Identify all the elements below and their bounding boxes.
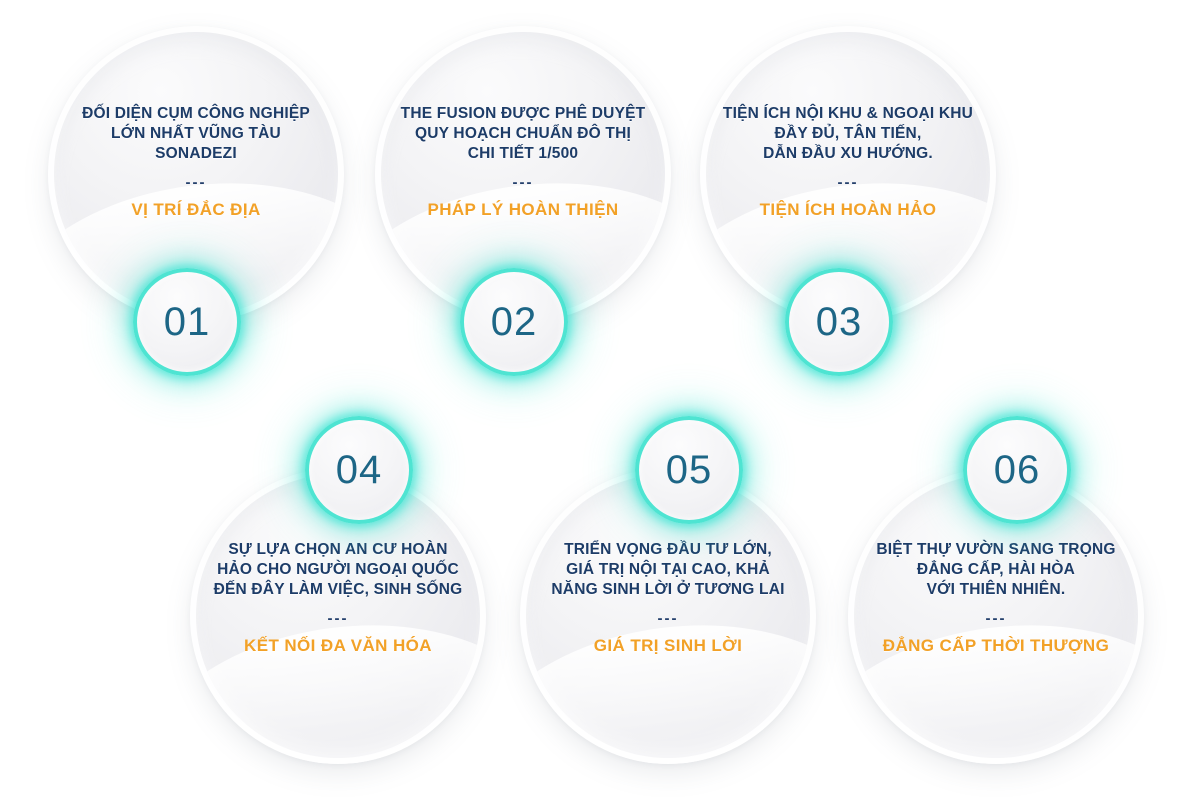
card-text-block: TRIỂN VỌNG ĐẦU TƯ LỚN, GIÁ TRỊ NỘI TẠI C…	[538, 540, 799, 657]
card-subtitle: TIỆN ÍCH HOÀN HẢO	[718, 199, 979, 221]
card-number-badge: 01	[133, 268, 241, 376]
feature-card-04: SỰ LỰA CHỌN AN CƯ HOÀN HẢO CHO NGƯỜI NGO…	[190, 468, 486, 764]
feature-card-06: BIỆT THỰ VƯỜN SANG TRỌNG ĐẲNG CẤP, HÀI H…	[848, 468, 1144, 764]
card-number-label: 05	[666, 450, 713, 490]
card-separator: ---	[208, 609, 469, 629]
card-number-label: 02	[491, 302, 538, 342]
card-number-badge: 04	[305, 416, 413, 524]
card-subtitle: PHÁP LÝ HOÀN THIỆN	[393, 199, 654, 221]
card-text-block: THE FUSION ĐƯỢC PHÊ DUYỆT QUY HOẠCH CHUẨ…	[393, 104, 654, 221]
card-text-block: BIỆT THỰ VƯỜN SANG TRỌNG ĐẲNG CẤP, HÀI H…	[866, 540, 1127, 657]
card-number-badge: 06	[963, 416, 1071, 524]
infographic-canvas: ĐỐI DIỆN CỤM CÔNG NGHIỆP LỚN NHẤT VŨNG T…	[0, 0, 1200, 800]
card-number-badge: 05	[635, 416, 743, 524]
card-number-label: 04	[336, 450, 383, 490]
card-heading: THE FUSION ĐƯỢC PHÊ DUYỆT QUY HOẠCH CHUẨ…	[393, 104, 654, 164]
card-text-block: SỰ LỰA CHỌN AN CƯ HOÀN HẢO CHO NGƯỜI NGO…	[208, 540, 469, 657]
card-subtitle: ĐẲNG CẤP THỜI THƯỢNG	[866, 635, 1127, 657]
card-heading: TRIỂN VỌNG ĐẦU TƯ LỚN, GIÁ TRỊ NỘI TẠI C…	[538, 540, 799, 600]
card-number-label: 06	[994, 450, 1041, 490]
card-heading: SỰ LỰA CHỌN AN CƯ HOÀN HẢO CHO NGƯỜI NGO…	[208, 540, 469, 600]
card-subtitle: GIÁ TRỊ SINH LỜI	[538, 635, 799, 657]
card-text-block: TIỆN ÍCH NỘI KHU & NGOẠI KHU ĐẦY ĐỦ, TÂN…	[718, 104, 979, 221]
card-subtitle: KẾT NỐI ĐA VĂN HÓA	[208, 635, 469, 657]
card-number-badge: 03	[785, 268, 893, 376]
card-text-block: ĐỐI DIỆN CỤM CÔNG NGHIỆP LỚN NHẤT VŨNG T…	[66, 104, 327, 221]
card-number-badge: 02	[460, 268, 568, 376]
feature-card-02: THE FUSION ĐƯỢC PHÊ DUYỆT QUY HOẠCH CHUẨ…	[375, 26, 671, 322]
card-heading: BIỆT THỰ VƯỜN SANG TRỌNG ĐẲNG CẤP, HÀI H…	[866, 540, 1127, 600]
card-separator: ---	[393, 173, 654, 193]
card-heading: ĐỐI DIỆN CỤM CÔNG NGHIỆP LỚN NHẤT VŨNG T…	[66, 104, 327, 164]
card-separator: ---	[718, 173, 979, 193]
feature-card-01: ĐỐI DIỆN CỤM CÔNG NGHIỆP LỚN NHẤT VŨNG T…	[48, 26, 344, 322]
feature-card-05: TRIỂN VỌNG ĐẦU TƯ LỚN, GIÁ TRỊ NỘI TẠI C…	[520, 468, 816, 764]
card-separator: ---	[866, 609, 1127, 629]
feature-card-03: TIỆN ÍCH NỘI KHU & NGOẠI KHU ĐẦY ĐỦ, TÂN…	[700, 26, 996, 322]
card-heading: TIỆN ÍCH NỘI KHU & NGOẠI KHU ĐẦY ĐỦ, TÂN…	[718, 104, 979, 164]
card-number-label: 01	[164, 302, 211, 342]
card-subtitle: VỊ TRÍ ĐẮC ĐỊA	[66, 199, 327, 221]
card-separator: ---	[66, 173, 327, 193]
card-number-label: 03	[816, 302, 863, 342]
card-separator: ---	[538, 609, 799, 629]
